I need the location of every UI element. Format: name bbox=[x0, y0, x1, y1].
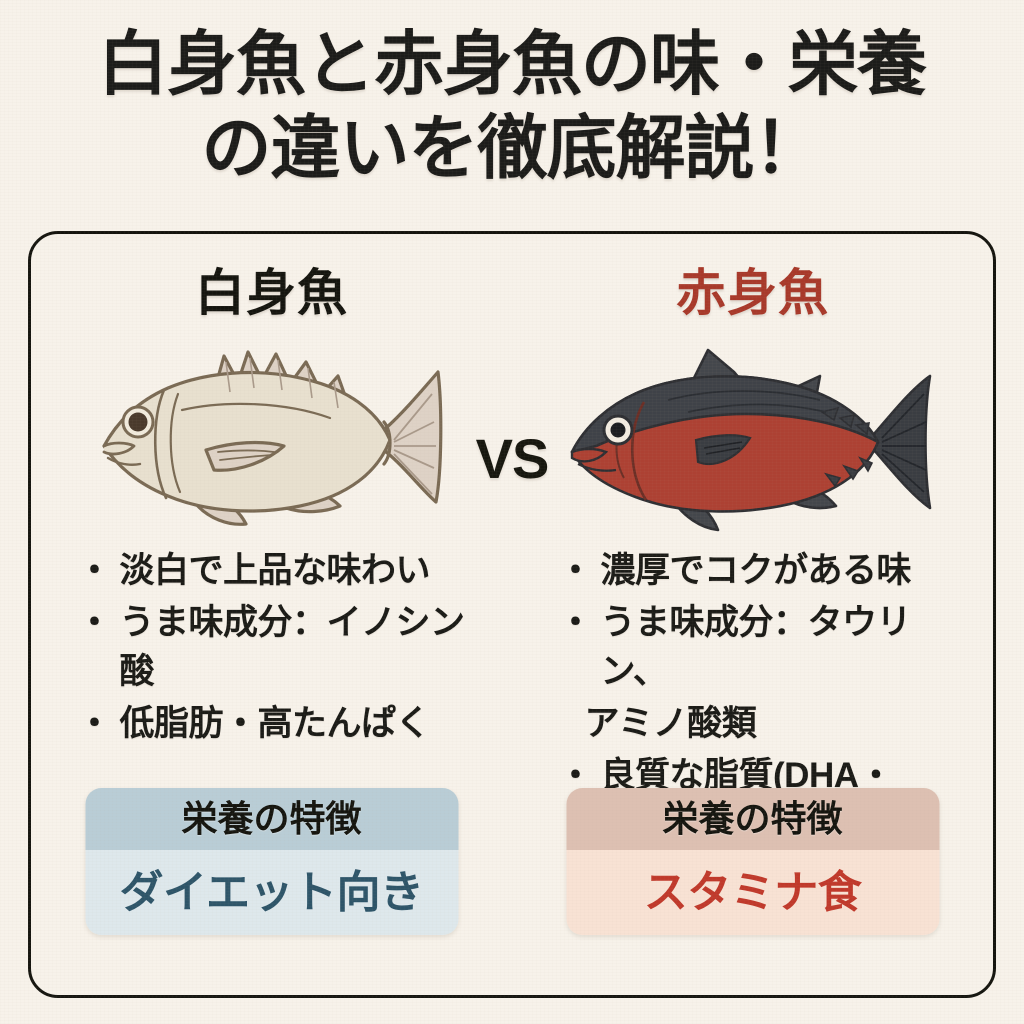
nutrition-card-red-fish: 栄養の特徴 スタミナ食 bbox=[566, 788, 939, 935]
heading-red-fish: 赤身魚 bbox=[512, 264, 993, 322]
bullet-marker-icon: ・ bbox=[77, 699, 112, 748]
bullets-white-fish: ・ 淡白で上品な味わい ・ うま味成分：イノシン酸 ・ 低脂肪・高たんぱく bbox=[31, 546, 512, 751]
comparison-columns: 白身魚 bbox=[31, 234, 993, 995]
bullet-marker-icon: ・ bbox=[558, 598, 593, 647]
vs-divider-label: VS bbox=[476, 431, 549, 487]
heading-white-fish: 白身魚 bbox=[31, 264, 512, 322]
bullet-indent-spacer bbox=[558, 699, 576, 748]
sea-bream-fish-icon bbox=[31, 334, 512, 549]
bullet-text: 淡白で上品な味わい bbox=[120, 546, 478, 595]
bullet-text: うま味成分：タウリン、 bbox=[601, 598, 959, 696]
list-item: ・ 濃厚でコクがある味 bbox=[558, 546, 959, 595]
bullet-text: 濃厚でコクがある味 bbox=[601, 546, 959, 595]
nutrition-card-header: 栄養の特徴 bbox=[566, 788, 939, 850]
bullet-marker-icon: ・ bbox=[558, 546, 593, 595]
bullet-text: アミノ酸類 bbox=[584, 699, 959, 748]
bullet-marker-icon: ・ bbox=[77, 598, 112, 647]
title-line-1: 白身魚と赤身魚の味・栄養 bbox=[0, 22, 1024, 106]
comparison-panel: 白身魚 bbox=[28, 231, 996, 998]
bullet-text: 低脂肪・高たんぱく bbox=[120, 699, 478, 748]
list-item: ・ うま味成分：タウリン、 bbox=[558, 598, 959, 696]
nutrition-card-header: 栄養の特徴 bbox=[85, 788, 458, 850]
nutrition-card-value: ダイエット向き bbox=[85, 850, 458, 935]
list-item: ・ うま味成分：イノシン酸 bbox=[77, 598, 478, 696]
column-white-fish: 白身魚 bbox=[31, 234, 512, 995]
list-item: ・ 低脂肪・高たんぱく bbox=[77, 699, 478, 748]
nutrition-card-value: スタミナ食 bbox=[566, 850, 939, 935]
list-item: ・ 淡白で上品な味わい bbox=[77, 546, 478, 595]
tuna-fish-icon bbox=[512, 334, 993, 549]
title-line-2: の違いを徹底解説！ bbox=[0, 106, 1024, 190]
column-red-fish: 赤身魚 bbox=[512, 234, 993, 995]
bullet-text: うま味成分：イノシン酸 bbox=[120, 598, 478, 696]
bullet-marker-icon: ・ bbox=[77, 546, 112, 595]
page-title: 白身魚と赤身魚の味・栄養 の違いを徹底解説！ bbox=[0, 22, 1024, 190]
nutrition-card-white-fish: 栄養の特徴 ダイエット向き bbox=[85, 788, 458, 935]
list-item-continuation: アミノ酸類 bbox=[558, 699, 959, 748]
